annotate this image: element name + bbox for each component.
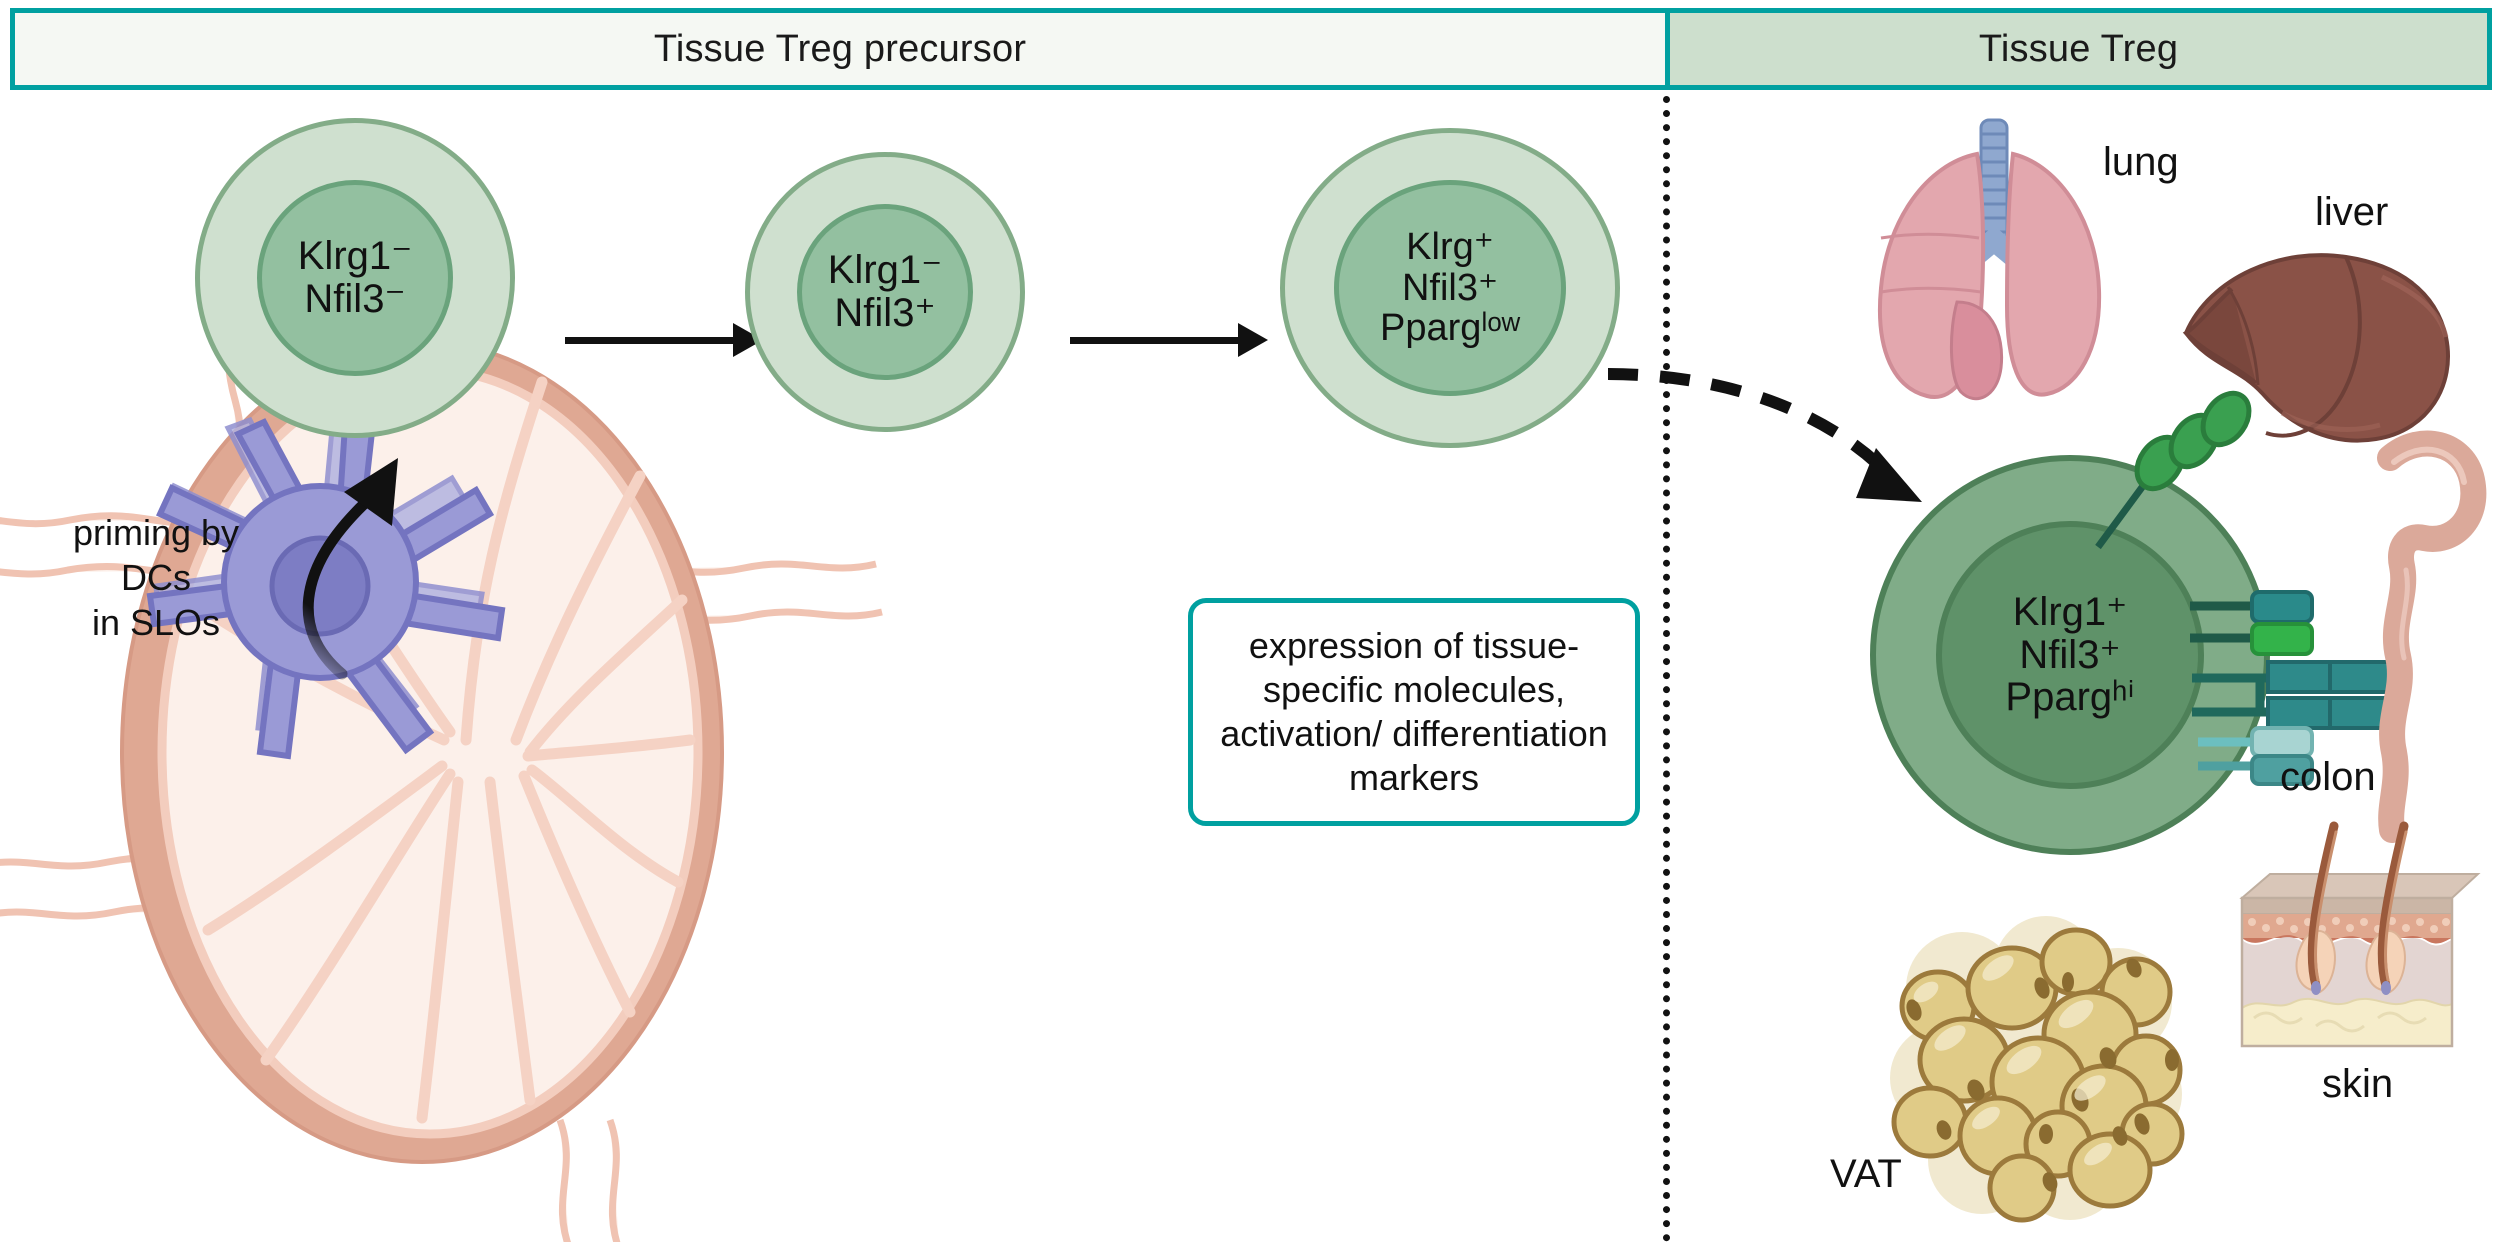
cell-nucleus-markers: Klrg1⁻ Nfil3⁺ xyxy=(797,204,973,380)
precursor-cell-2: Klrg1⁻ Nfil3⁺ xyxy=(745,152,1025,432)
receptor-green xyxy=(2252,624,2312,654)
colon-label: colon xyxy=(2280,755,2376,800)
vat-icon xyxy=(1890,910,2190,1210)
liver-label: liver xyxy=(2315,190,2388,235)
cell-nucleus-markers: Klrg1⁺ Nfil3⁺ Ppargʰⁱ xyxy=(1936,521,2204,789)
header-bar: Tissue Treg precursor Tissue Treg xyxy=(10,8,2492,90)
lung-label: lung xyxy=(2103,140,2179,185)
priming-label: priming by DCs in SLOs xyxy=(6,510,306,645)
section-divider xyxy=(1663,96,1670,1242)
header-tissue-treg-precursor: Tissue Treg precursor xyxy=(15,13,1665,85)
priming-arrow xyxy=(272,452,452,682)
expression-textbox: expression of tissue-specific molecules,… xyxy=(1188,598,1640,826)
diagram-canvas: Tissue Treg precursor Tissue Treg xyxy=(0,0,2500,1242)
cell-nucleus-markers: Klrg⁺ Nfil3⁺ Ppargˡᵒʷ xyxy=(1334,180,1566,396)
vat-label: VAT xyxy=(1830,1152,1902,1197)
colon-icon xyxy=(2360,440,2500,840)
lung-icon xyxy=(1865,120,2125,420)
skin-icon xyxy=(2230,860,2480,1060)
liver-icon xyxy=(2170,235,2460,455)
skin-label: skin xyxy=(2322,1062,2393,1107)
precursor-cell-3: Klrg⁺ Nfil3⁺ Ppargˡᵒʷ xyxy=(1280,128,1620,448)
receptor-light-teal xyxy=(2252,728,2312,756)
cell-nucleus-markers: Klrg1⁻ Nfil3⁻ xyxy=(257,180,453,376)
receptor-teal xyxy=(2252,592,2312,622)
header-tissue-treg: Tissue Treg xyxy=(1665,13,2487,85)
precursor-cell-1: Klrg1⁻ Nfil3⁻ xyxy=(195,118,515,438)
